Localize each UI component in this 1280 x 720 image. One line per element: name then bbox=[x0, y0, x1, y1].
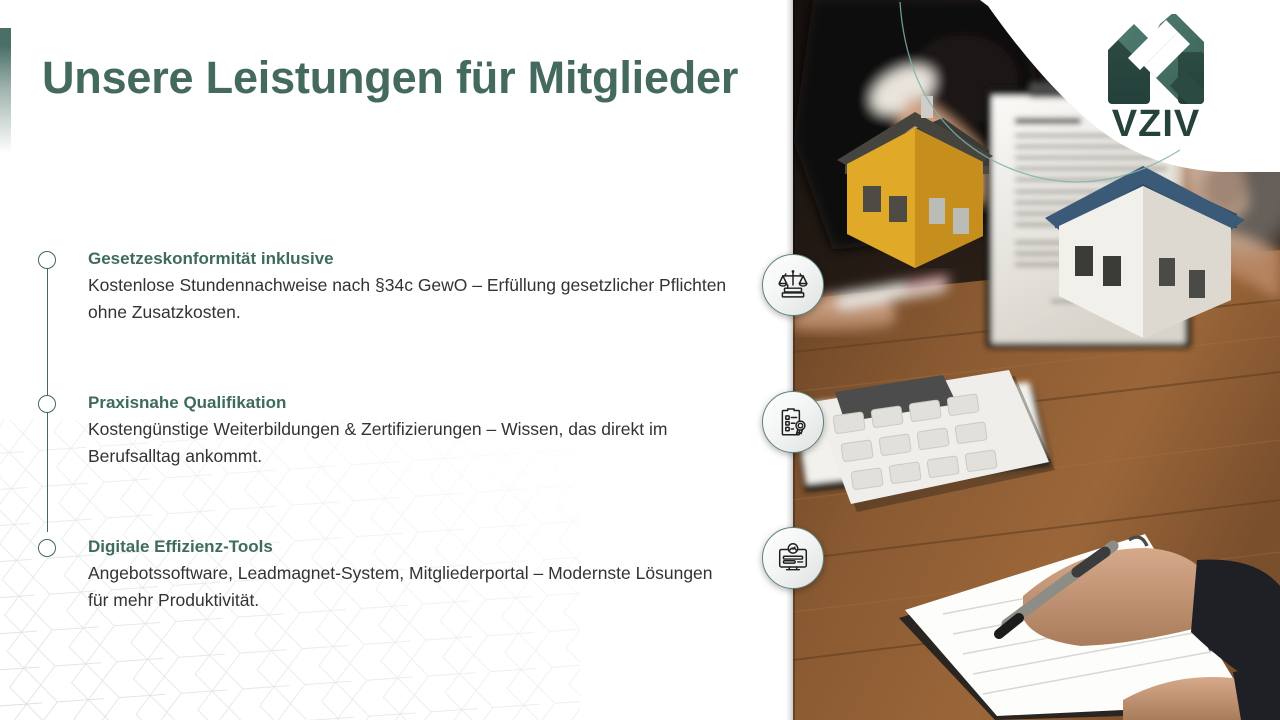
slide-root: Unsere Leistungen für Mitglieder Gesetze… bbox=[0, 0, 1280, 720]
list-item-body: Digitale Effizienz-Tools Angebotssoftwar… bbox=[88, 536, 732, 614]
list-item-text: Kostenlose Stundennachweise nach §34c Ge… bbox=[88, 272, 732, 326]
list-item-text: Kostengünstige Weiterbildungen & Zertifi… bbox=[88, 416, 732, 470]
list-item: Praxisnahe Qualifikation Kostengünstige … bbox=[32, 392, 732, 470]
list-item-heading: Gesetzeskonformität inklusive bbox=[88, 248, 732, 270]
logo-wordmark: VZIV bbox=[1112, 104, 1200, 144]
list-item-heading: Digitale Effizienz-Tools bbox=[88, 536, 732, 558]
benefits-list: Gesetzeskonformität inklusive Kostenlose… bbox=[32, 248, 732, 614]
list-item: Digitale Effizienz-Tools Angebotssoftwar… bbox=[32, 536, 732, 614]
list-item: Gesetzeskonformität inklusive Kostenlose… bbox=[32, 248, 732, 326]
page-title: Unsere Leistungen für Mitglieder bbox=[42, 52, 738, 104]
list-item-text: Angebotssoftware, Leadmagnet-System, Mit… bbox=[88, 560, 732, 614]
timeline-circle-marker bbox=[38, 539, 56, 557]
badge-scales-of-justice bbox=[762, 254, 824, 316]
list-item-body: Praxisnahe Qualifikation Kostengünstige … bbox=[88, 392, 732, 470]
badge-monitor-dashboard bbox=[762, 527, 824, 589]
list-item-body: Gesetzeskonformität inklusive Kostenlose… bbox=[88, 248, 732, 326]
timeline-circle-marker bbox=[38, 395, 56, 413]
timeline-circle-marker bbox=[38, 251, 56, 269]
monitor-dashboard-icon bbox=[776, 541, 810, 575]
house-n-monogram-icon bbox=[1104, 14, 1208, 106]
badge-clipboard-certificate bbox=[762, 391, 824, 453]
scales-of-justice-icon bbox=[776, 268, 810, 302]
vziv-logo: VZIV bbox=[1076, 14, 1236, 146]
list-item-heading: Praxisnahe Qualifikation bbox=[88, 392, 732, 414]
clipboard-certificate-icon bbox=[776, 405, 810, 439]
left-accent-bar bbox=[0, 28, 11, 153]
